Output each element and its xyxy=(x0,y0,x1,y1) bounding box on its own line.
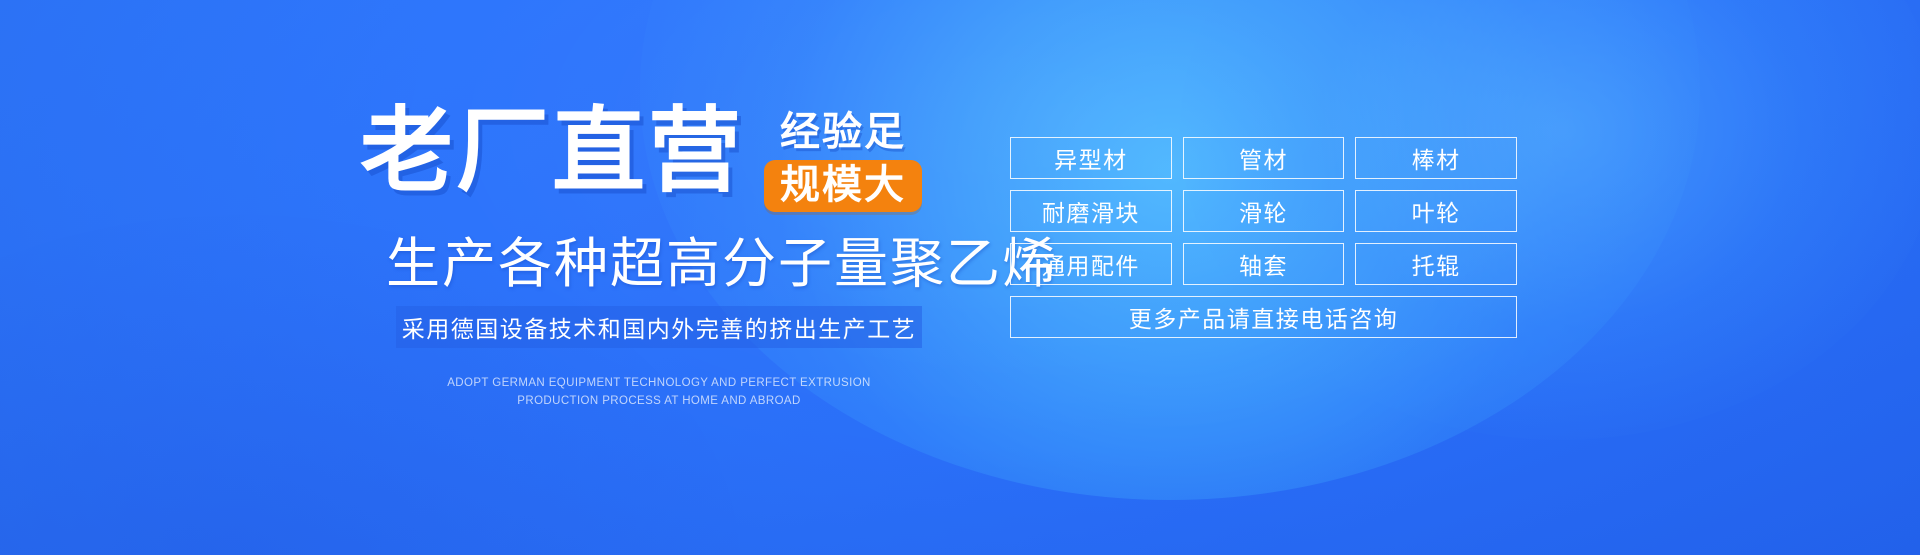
product-button-naimohuakuai[interactable]: 耐磨滑块 xyxy=(1010,190,1172,232)
product-button-label: 滑轮 xyxy=(1239,194,1288,228)
product-button-yixingcai[interactable]: 异型材 xyxy=(1010,137,1172,179)
product-button-label: 管材 xyxy=(1239,141,1288,175)
product-button-label: 异型材 xyxy=(1054,141,1128,175)
product-category-panel: 异型材 管材 棒材 耐磨滑块 滑轮 叶轮 通用配件 轴套 xyxy=(1010,137,1517,338)
more-products-contact-button[interactable]: 更多产品请直接电话咨询 xyxy=(1010,296,1517,338)
product-button-tongyongpeijian[interactable]: 通用配件 xyxy=(1010,243,1172,285)
product-button-tuogun[interactable]: 托辊 xyxy=(1355,243,1517,285)
more-products-contact-label: 更多产品请直接电话咨询 xyxy=(1129,300,1399,334)
promo-banner: 老厂直营 经验足 规模大 生产各种超高分子量聚乙烯 采用德国设备技术和国内外完善… xyxy=(0,0,1920,555)
product-button-label: 叶轮 xyxy=(1412,194,1461,228)
headline-badges: 经验足 规模大 xyxy=(764,111,922,212)
english-subtitle-line-2: PRODUCTION PROCESS AT HOME AND ABROAD xyxy=(396,393,922,411)
product-button-bangcai[interactable]: 棒材 xyxy=(1355,137,1517,179)
product-button-label: 托辊 xyxy=(1412,247,1461,281)
english-subtitle: ADOPT GERMAN EQUIPMENT TECHNOLOGY AND PE… xyxy=(396,375,922,411)
product-button-label: 通用配件 xyxy=(1042,247,1140,281)
headline-row: 老厂直营 经验足 规模大 xyxy=(360,105,922,212)
ribbon-banner: 采用德国设备技术和国内外完善的挤出生产工艺 xyxy=(396,306,922,348)
headline-main: 老厂直营 xyxy=(360,105,744,198)
ribbon-text: 采用德国设备技术和国内外完善的挤出生产工艺 xyxy=(402,310,917,344)
product-button-guancai[interactable]: 管材 xyxy=(1183,137,1345,179)
badge-scale: 规模大 xyxy=(764,160,922,212)
product-category-grid: 异型材 管材 棒材 耐磨滑块 滑轮 叶轮 通用配件 轴套 xyxy=(1010,137,1517,285)
product-button-yelun[interactable]: 叶轮 xyxy=(1355,190,1517,232)
english-subtitle-line-1: ADOPT GERMAN EQUIPMENT TECHNOLOGY AND PE… xyxy=(396,375,922,393)
product-button-hualun[interactable]: 滑轮 xyxy=(1183,190,1345,232)
hero-text-block: 老厂直营 经验足 规模大 生产各种超高分子量聚乙烯 采用德国设备技术和国内外完善… xyxy=(0,0,1000,555)
product-button-zhoutao[interactable]: 轴套 xyxy=(1183,243,1345,285)
badge-experience: 经验足 xyxy=(780,111,906,153)
product-button-label: 耐磨滑块 xyxy=(1042,194,1140,228)
subheadline: 生产各种超高分子量聚乙烯 xyxy=(386,237,1058,291)
product-button-label: 棒材 xyxy=(1412,141,1461,175)
product-button-label: 轴套 xyxy=(1239,247,1288,281)
